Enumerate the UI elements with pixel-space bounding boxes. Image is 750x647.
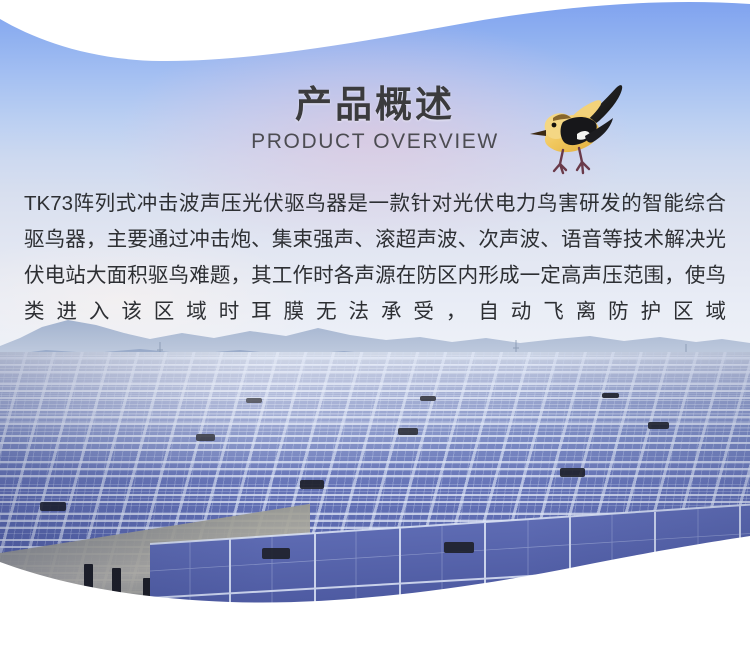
page-title: 产品概述 [0,84,750,125]
flying-oriole-bird-icon [519,78,631,190]
page-header: 产品概述 PRODUCT OVERVIEW [0,84,750,154]
solar-panel-array [0,352,750,647]
product-overview-banner: 产品概述 PRODUCT OVERVIEW [0,0,750,647]
panel-sheen [0,352,750,647]
page-subtitle: PRODUCT OVERVIEW [0,130,750,154]
product-description: TK73阵列式冲击波声压光伏驱鸟器是一款针对光伏电力鸟害研发的智能综合驱鸟器，主… [24,186,726,330]
